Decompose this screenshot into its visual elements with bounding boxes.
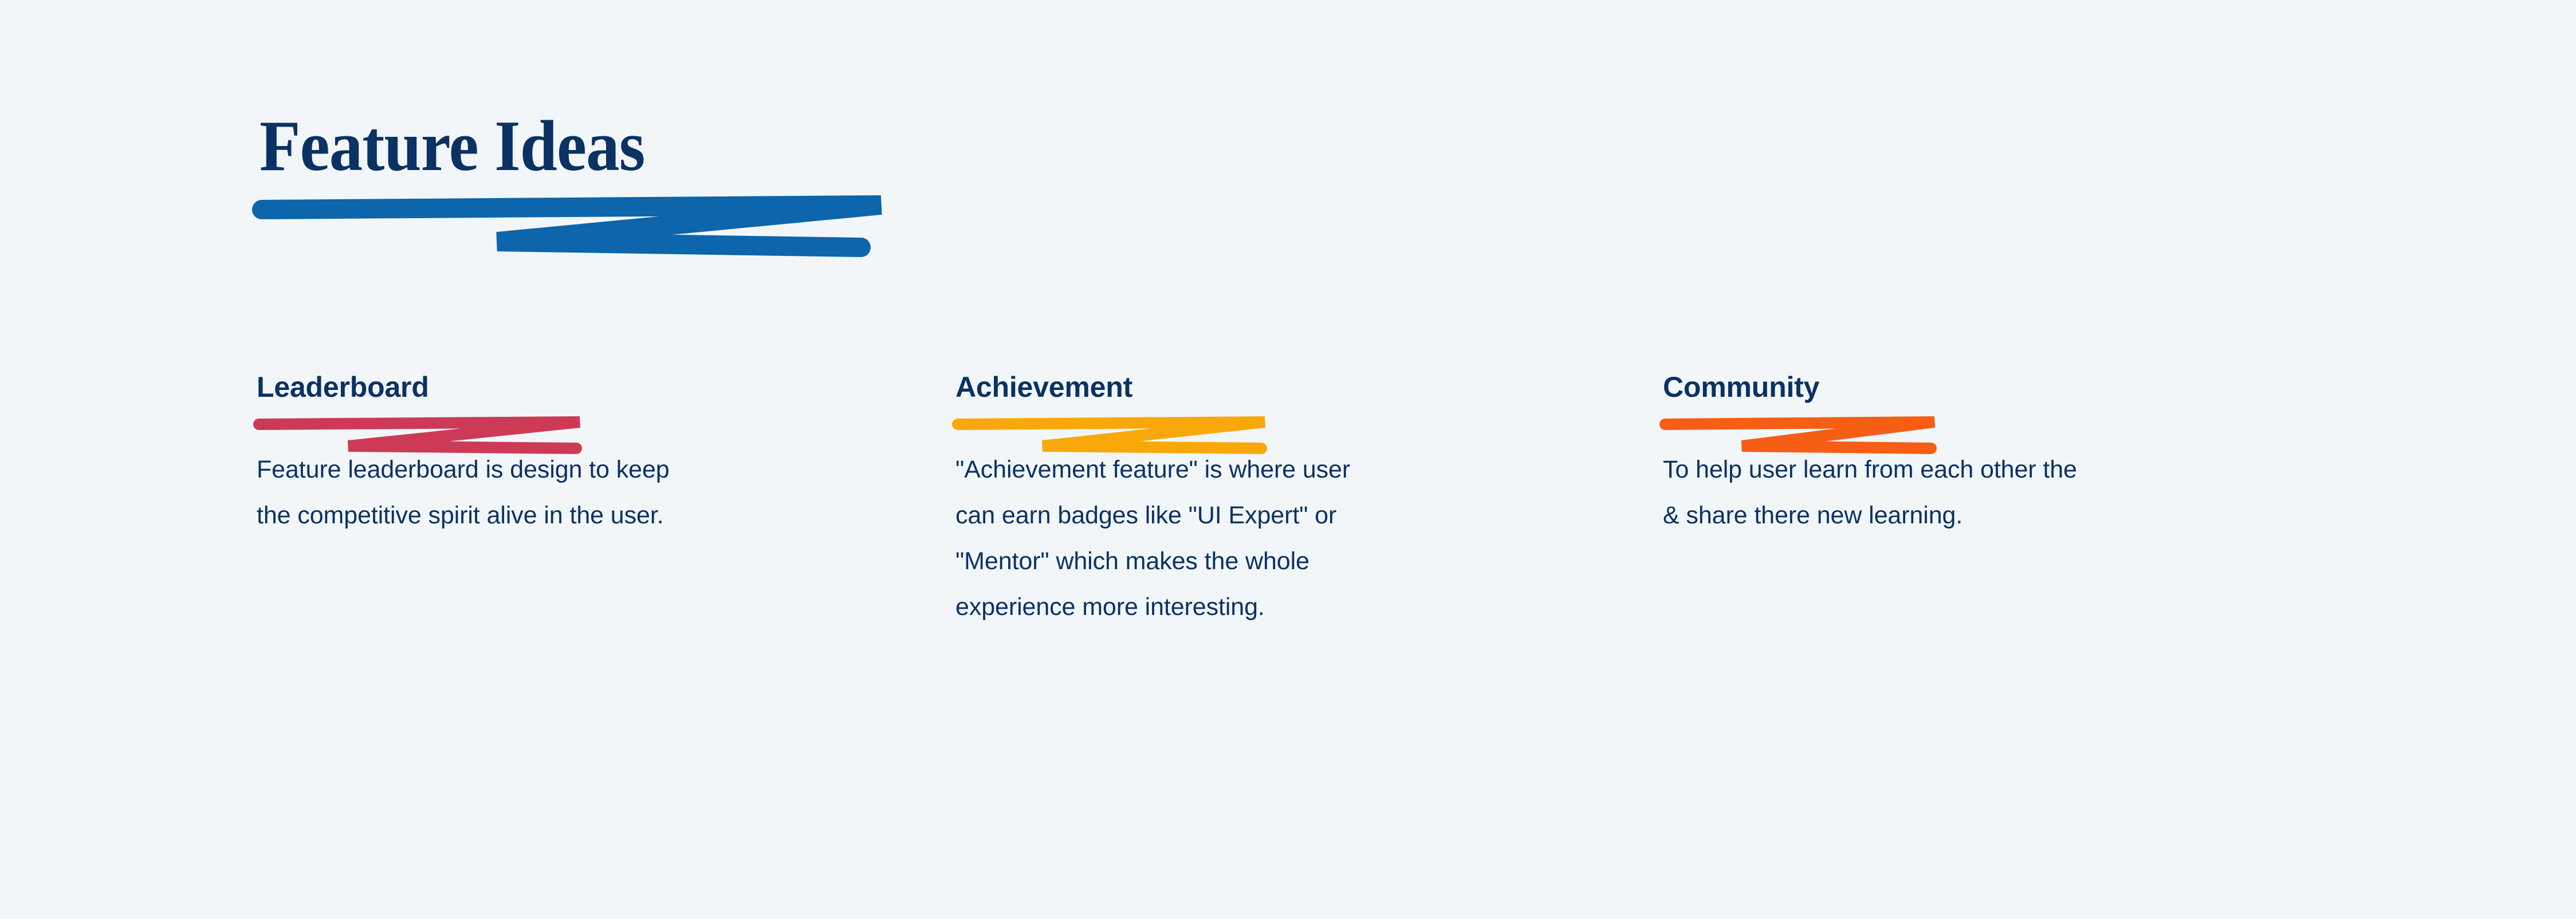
column-body-line: can earn badges like "UI Expert" or (955, 493, 1586, 539)
feature-column-achievement: Achievement "Achievement feature" is whe… (955, 369, 1631, 444)
column-body-line: & share there new learning. (1663, 493, 2293, 539)
title-zigzag-underline-icon (254, 195, 918, 263)
column-heading: Community (1663, 369, 1819, 405)
column-body: "Achievement feature" is where user can … (955, 447, 1586, 630)
achievement-zigzag-stroke (958, 422, 1265, 448)
feature-columns: Leaderboard Feature leaderboard is desig… (0, 369, 2576, 690)
leaderboard-zigzag-stroke (259, 422, 580, 448)
community-zigzag-stroke (1665, 422, 1934, 448)
column-heading: Leaderboard (257, 369, 429, 405)
feature-column-leaderboard: Leaderboard Feature leaderboard is desig… (257, 369, 933, 444)
column-body-line: the competitive spirit alive in the user… (257, 493, 887, 539)
column-body-line: Feature leaderboard is design to keep (257, 447, 887, 493)
page-title: Feature Ideas (259, 109, 644, 184)
column-heading-wrap: Community (1663, 369, 2339, 444)
column-body-line: "Achievement feature" is where user (955, 447, 1586, 493)
column-heading-wrap: Achievement (955, 369, 1631, 444)
column-body: Feature leaderboard is design to keep th… (257, 447, 887, 539)
column-heading-wrap: Leaderboard (257, 369, 933, 444)
column-heading: Achievement (955, 369, 1132, 405)
page-title-block: Feature Ideas (254, 109, 941, 252)
column-body-line: "Mentor" which makes the whole (955, 539, 1586, 585)
feature-ideas-slide: { "page": { "title": "Feature Ideas", "b… (0, 0, 2576, 919)
title-zigzag-stroke (262, 205, 881, 247)
column-body-line: To help user learn from each other the (1663, 447, 2293, 493)
column-body-line: experience more interesting. (955, 585, 1586, 630)
column-body: To help user learn from each other the &… (1663, 447, 2293, 539)
feature-column-community: Community To help user learn from each o… (1663, 369, 2339, 444)
